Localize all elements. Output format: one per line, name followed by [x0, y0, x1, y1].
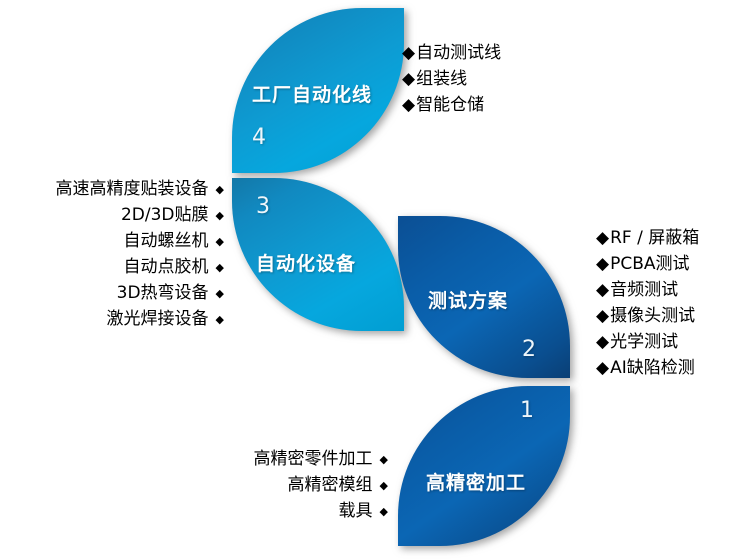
stage-4-bullet-list: ◆ 自动测试线 ◆ 组装线 ◆ 智能仓储	[402, 40, 501, 118]
list-item: ◆ 智能仓储	[402, 92, 501, 118]
list-item: 3D热弯设备 ◆	[0, 280, 224, 306]
bullet-label: 组装线	[416, 66, 467, 92]
list-item: ◆ 光学测试	[596, 329, 699, 355]
list-item: 高速高精度贴装设备 ◆	[0, 176, 224, 202]
list-item: 载具 ◆	[140, 498, 388, 524]
diamond-bullet-icon: ◆	[596, 360, 609, 377]
list-item: 自动点胶机 ◆	[0, 254, 224, 280]
diamond-bullet-icon: ◆	[380, 480, 388, 491]
bullet-label: 摄像头测试	[610, 303, 695, 329]
bullet-label: RF / 屏蔽箱	[610, 225, 699, 251]
stage-4-shape[interactable]: 工厂自动化线 4	[232, 8, 404, 173]
bullet-label: 高精密零件加工	[254, 446, 373, 472]
diamond-bullet-icon: ◆	[216, 314, 224, 325]
stage-4-leaf-graphic	[232, 8, 404, 173]
bullet-label: 高精密模组	[288, 472, 373, 498]
diagram-canvas: 工厂自动化线 4 ◆ 自动测试线 ◆ 组装线 ◆ 智能仓储 3 自动化设备 高速…	[0, 0, 742, 560]
list-item: 高精密零件加工 ◆	[140, 446, 388, 472]
bullet-label: 自动点胶机	[124, 254, 209, 280]
stage-2-leaf-graphic	[398, 216, 570, 378]
diamond-bullet-icon: ◆	[380, 506, 388, 517]
list-item: 2D/3D贴膜 ◆	[0, 202, 224, 228]
stage-3-bullet-list: 高速高精度贴装设备 ◆ 2D/3D贴膜 ◆ 自动螺丝机 ◆ 自动点胶机 ◆ 3D…	[0, 176, 224, 332]
bullet-label: AI缺陷检测	[610, 355, 695, 381]
diamond-bullet-icon: ◆	[380, 454, 388, 465]
list-item: 激光焊接设备 ◆	[0, 306, 224, 332]
diamond-bullet-icon: ◆	[216, 262, 224, 273]
list-item: ◆ AI缺陷检测	[596, 355, 699, 381]
diamond-bullet-icon: ◆	[596, 230, 609, 247]
list-item: ◆ 摄像头测试	[596, 303, 699, 329]
list-item: 自动螺丝机 ◆	[0, 228, 224, 254]
bullet-label: PCBA测试	[610, 251, 689, 277]
diamond-bullet-icon: ◆	[216, 288, 224, 299]
stage-3-leaf-graphic	[232, 178, 404, 331]
diamond-bullet-icon: ◆	[596, 282, 609, 299]
bullet-label: 3D热弯设备	[117, 280, 209, 306]
bullet-label: 2D/3D贴膜	[121, 202, 209, 228]
diamond-bullet-icon: ◆	[596, 256, 609, 273]
bullet-label: 音频测试	[610, 277, 678, 303]
list-item: ◆ 音频测试	[596, 277, 699, 303]
list-item: ◆ 组装线	[402, 66, 501, 92]
stage-3-shape[interactable]: 3 自动化设备	[232, 178, 404, 331]
list-item: ◆ PCBA测试	[596, 251, 699, 277]
list-item: 高精密模组 ◆	[140, 472, 388, 498]
bullet-label: 载具	[339, 498, 373, 524]
stage-2-shape[interactable]: 测试方案 2	[398, 216, 570, 378]
diamond-bullet-icon: ◆	[216, 184, 224, 195]
stage-1-bullet-list: 高精密零件加工 ◆ 高精密模组 ◆ 载具 ◆	[140, 446, 388, 524]
bullet-label: 激光焊接设备	[107, 306, 209, 332]
bullet-label: 高速高精度贴装设备	[56, 176, 209, 202]
stage-1-leaf-graphic	[398, 386, 570, 546]
diamond-bullet-icon: ◆	[596, 308, 609, 325]
list-item: ◆ 自动测试线	[402, 40, 501, 66]
diamond-bullet-icon: ◆	[596, 334, 609, 351]
bullet-label: 光学测试	[610, 329, 678, 355]
bullet-label: 自动测试线	[416, 40, 501, 66]
stage-1-shape[interactable]: 1 高精密加工	[398, 386, 570, 546]
bullet-label: 智能仓储	[416, 92, 484, 118]
bullet-label: 自动螺丝机	[124, 228, 209, 254]
diamond-bullet-icon: ◆	[402, 97, 415, 114]
diamond-bullet-icon: ◆	[216, 210, 224, 221]
diamond-bullet-icon: ◆	[216, 236, 224, 247]
stage-2-bullet-list: ◆ RF / 屏蔽箱 ◆ PCBA测试 ◆ 音频测试 ◆ 摄像头测试 ◆ 光学测…	[596, 225, 699, 381]
diamond-bullet-icon: ◆	[402, 45, 415, 62]
list-item: ◆ RF / 屏蔽箱	[596, 225, 699, 251]
diamond-bullet-icon: ◆	[402, 71, 415, 88]
